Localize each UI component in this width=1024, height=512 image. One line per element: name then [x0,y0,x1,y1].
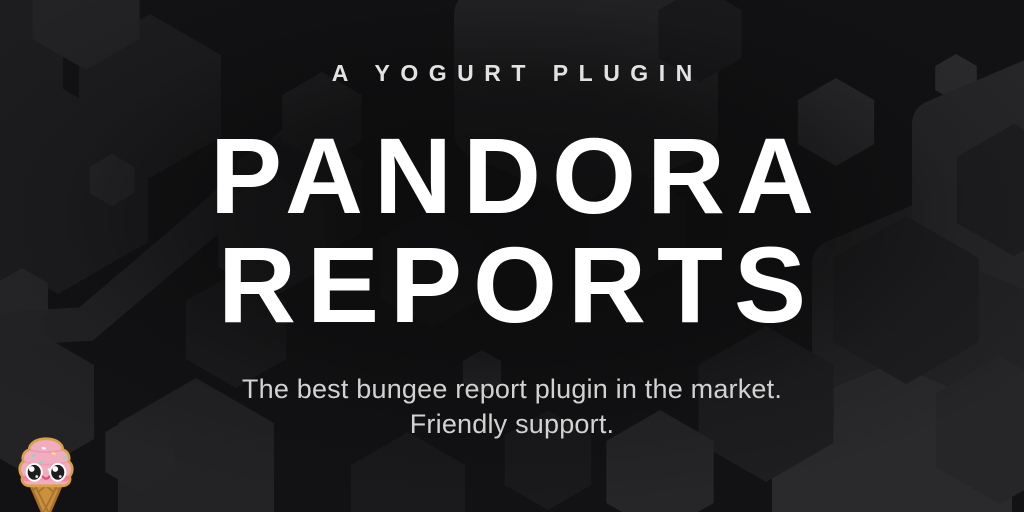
promo-banner: A YOGURT PLUGIN PANDORA REPORTS The best… [0,0,1024,512]
headline-line-2: REPORTS [207,232,817,339]
banner-content: A YOGURT PLUGIN PANDORA REPORTS The best… [0,0,1024,512]
ice-cream-cone-icon [4,432,88,512]
headline-line-1: PANDORA [199,123,825,230]
tagline-line-2: Friendly support. [242,407,782,443]
kicker-text: A YOGURT PLUGIN [321,62,702,85]
tagline-line-1: The best bungee report plugin in the mar… [242,372,782,408]
tagline: The best bungee report plugin in the mar… [242,372,782,443]
